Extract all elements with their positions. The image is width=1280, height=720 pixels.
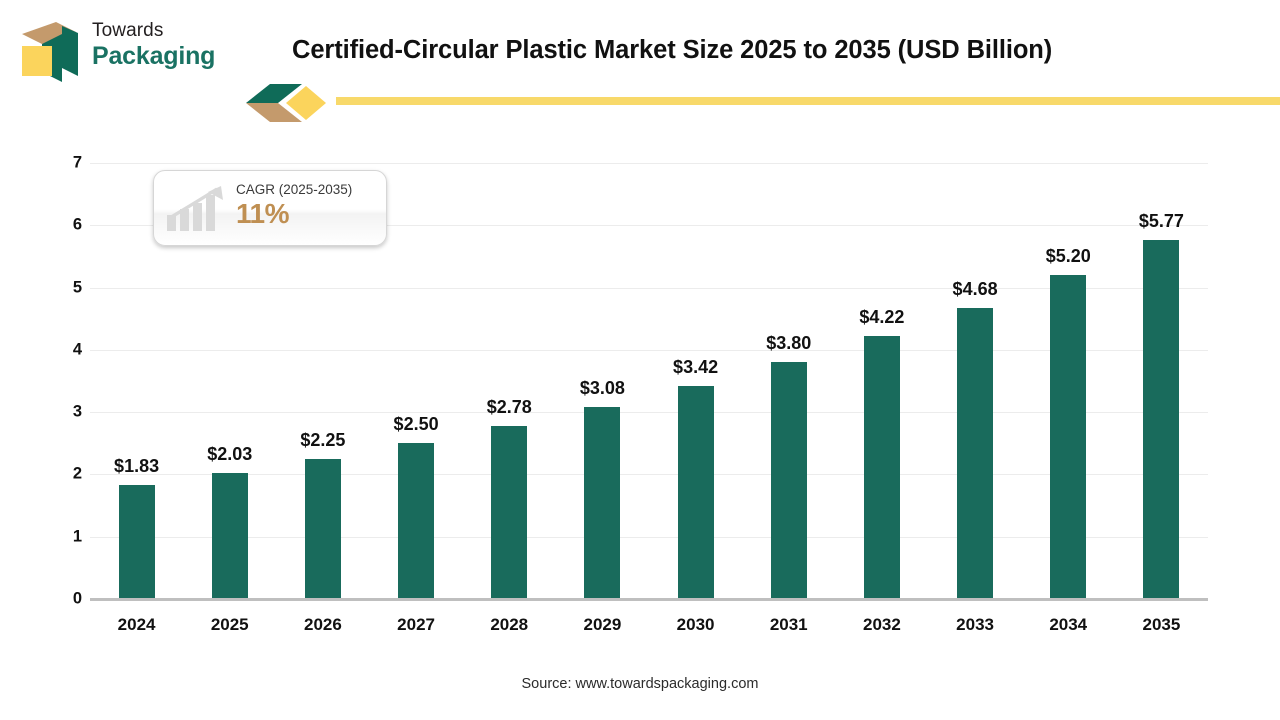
cagr-period-label: CAGR (2025-2035) (236, 182, 352, 197)
bar-slot[interactable]: $3.08 (556, 163, 649, 599)
bar[interactable] (771, 362, 807, 599)
brand-line-packaging: Packaging (92, 42, 215, 70)
cagr-badge: CAGR (2025-2035) 11% (153, 170, 387, 246)
brand-wordmark: Towards Packaging (92, 20, 215, 70)
y-axis-tick-label: 3 (42, 403, 82, 422)
x-axis-tick-label: 2033 (929, 615, 1022, 635)
y-axis-tick-label: 6 (42, 216, 82, 235)
axis-baseline (90, 598, 1208, 601)
x-axis-tick-label: 2027 (370, 615, 463, 635)
bar[interactable] (1050, 275, 1086, 599)
source-note: Source: www.towardspackaging.com (0, 676, 1280, 692)
bar[interactable] (491, 426, 527, 599)
x-axis-tick-label: 2032 (835, 615, 928, 635)
title-underline-rule (336, 97, 1280, 105)
bar[interactable] (398, 443, 434, 599)
bar-value-label: $2.03 (207, 444, 252, 465)
y-axis-tick-label: 7 (42, 154, 82, 173)
page-title: Certified-Circular Plastic Market Size 2… (292, 36, 1222, 65)
bar-slot[interactable]: $5.77 (1115, 163, 1208, 599)
bar-value-label: $4.22 (859, 307, 904, 328)
bar-value-label: $2.25 (300, 430, 345, 451)
bar-slot[interactable]: $3.42 (649, 163, 742, 599)
bar-value-label: $3.42 (673, 357, 718, 378)
bar-value-label: $3.08 (580, 378, 625, 399)
bar-value-label: $1.83 (114, 456, 159, 477)
bar[interactable] (584, 407, 620, 599)
x-axis-tick-label: 2024 (90, 615, 183, 635)
bar-value-label: $5.20 (1046, 246, 1091, 267)
bar-value-label: $2.78 (487, 397, 532, 418)
package-box-icon (16, 20, 82, 86)
bar[interactable] (305, 459, 341, 599)
x-axis-tick-label: 2026 (276, 615, 369, 635)
bar-value-label: $4.68 (953, 279, 998, 300)
y-axis-tick-label: 1 (42, 527, 82, 546)
bar-value-label: $3.80 (766, 333, 811, 354)
bar-slot[interactable]: $2.78 (463, 163, 556, 599)
bar-slot[interactable]: $4.22 (835, 163, 928, 599)
x-axis-tick-label: 2034 (1022, 615, 1115, 635)
brand-line-towards: Towards (92, 20, 215, 42)
bar[interactable] (212, 473, 248, 599)
y-axis-tick-label: 0 (42, 590, 82, 609)
x-axis-tick-label: 2030 (649, 615, 742, 635)
bar-value-label: $2.50 (394, 414, 439, 435)
chevron-diamond-icon (244, 82, 1280, 124)
bar[interactable] (864, 336, 900, 599)
y-axis-tick-label: 4 (42, 340, 82, 359)
x-axis-tick-label: 2035 (1115, 615, 1208, 635)
y-axis-tick-label: 5 (42, 278, 82, 297)
x-axis-tick-label: 2025 (183, 615, 276, 635)
bar-slot[interactable]: $5.20 (1022, 163, 1115, 599)
chart-header: Towards Packaging Certified-Circular Pla… (0, 0, 1280, 130)
bar[interactable] (119, 485, 155, 599)
bar-slot[interactable]: $3.80 (742, 163, 835, 599)
growth-bar-chart-icon (165, 185, 227, 233)
x-axis-tick-label: 2028 (463, 615, 556, 635)
bar-value-label: $5.77 (1139, 211, 1184, 232)
bar[interactable] (1143, 240, 1179, 599)
brand-logo: Towards Packaging (16, 18, 256, 90)
bar[interactable] (957, 308, 993, 599)
bar-slot[interactable]: $4.68 (929, 163, 1022, 599)
x-axis-tick-label: 2031 (742, 615, 835, 635)
cagr-value: 11% (236, 198, 289, 230)
bar[interactable] (678, 386, 714, 599)
y-axis-tick-label: 2 (42, 465, 82, 484)
x-axis-tick-label: 2029 (556, 615, 649, 635)
